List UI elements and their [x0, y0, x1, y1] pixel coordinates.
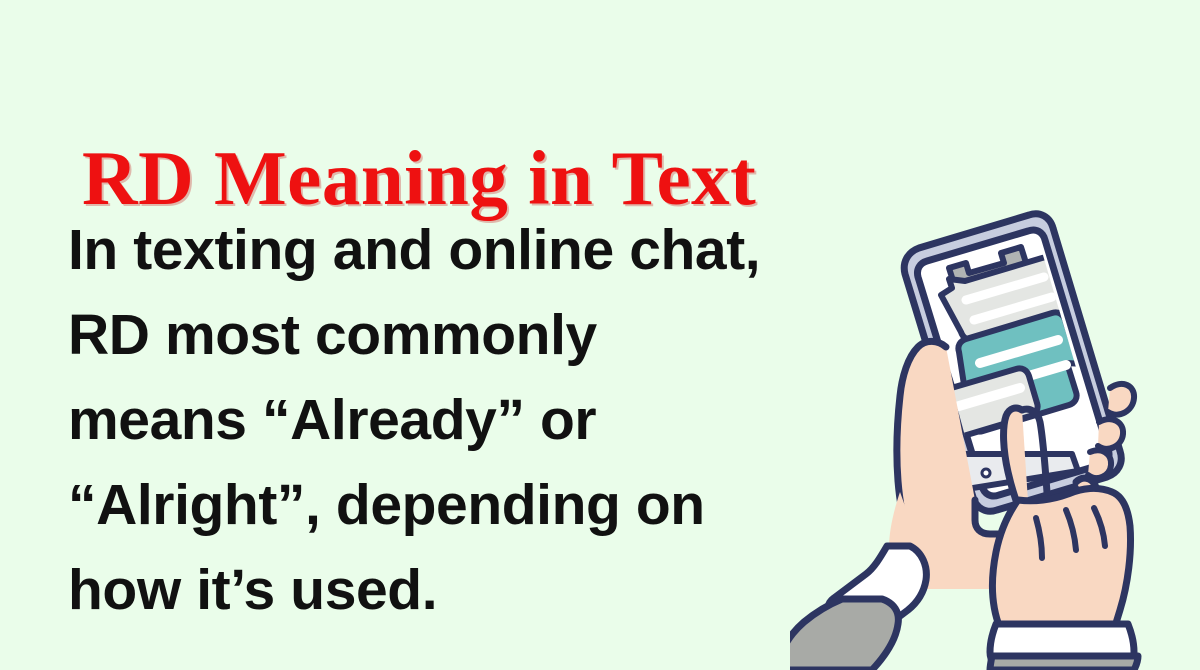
body-line-4: “Alright”, depending on — [68, 463, 758, 548]
input-bar-dot — [982, 469, 990, 477]
body-line-2: RD most commonly — [68, 293, 758, 378]
body-paragraph: In texting and online chat, RD most comm… — [68, 208, 758, 633]
poster-canvas: RD Meaning in Text In texting and online… — [0, 0, 1200, 670]
hands-holding-smartphone-illustration — [790, 200, 1200, 670]
body-line-5: how it’s used. — [68, 548, 758, 633]
smartphone-chat-svg — [790, 200, 1200, 670]
body-line-1: In texting and online chat, — [68, 208, 758, 293]
body-line-3: means “Already” or — [68, 378, 758, 463]
page-title: RD Meaning in Text — [82, 136, 902, 220]
